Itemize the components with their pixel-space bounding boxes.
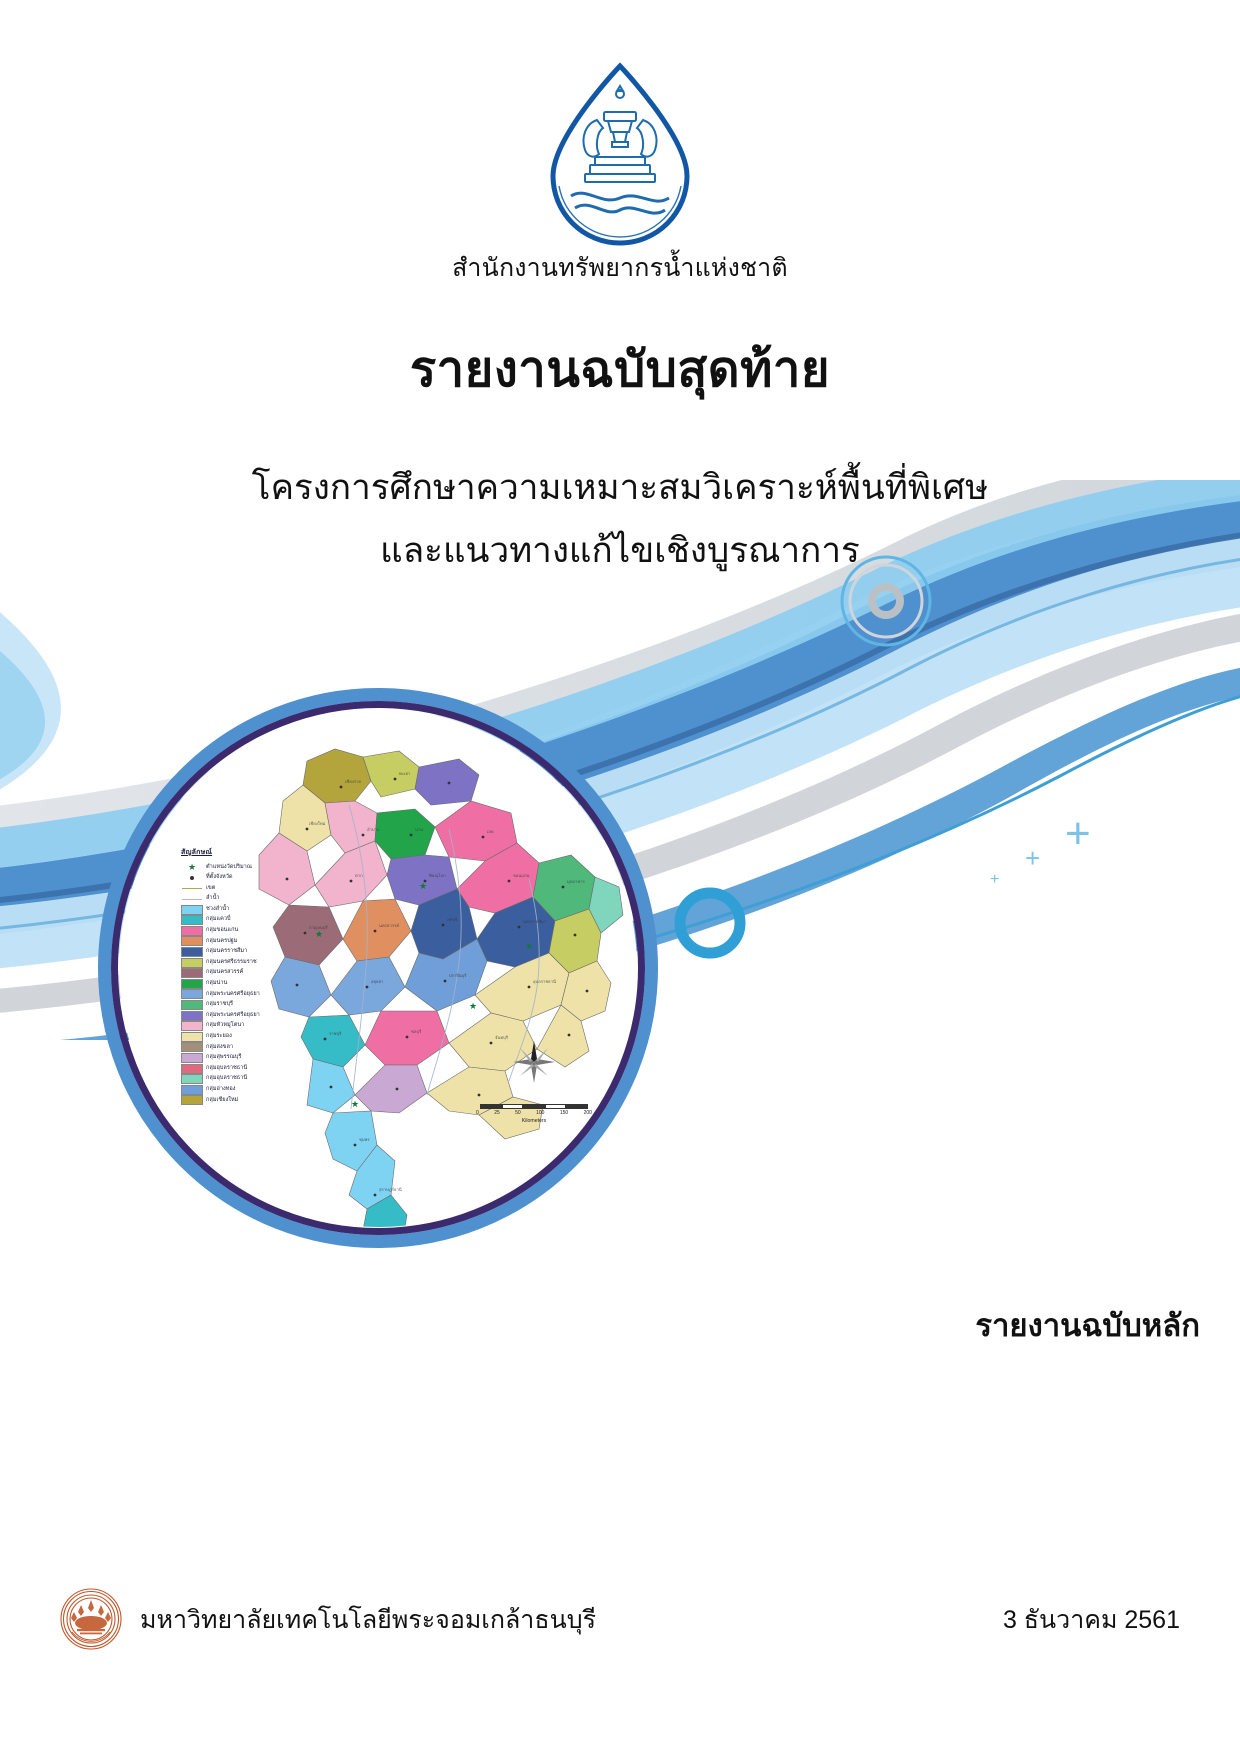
legend-color-swatch <box>181 936 203 946</box>
legend-key <box>181 899 203 900</box>
legend-key <box>181 1011 203 1021</box>
legend-color-swatch <box>181 1064 203 1074</box>
legend-color-swatch <box>181 905 203 915</box>
svg-text:★: ★ <box>525 941 533 951</box>
project-title-line-1: โครงการศึกษาความเหมาะสมวิเคราะห์พื้นที่พ… <box>0 460 1240 515</box>
legend-color-swatch <box>181 1021 203 1031</box>
legend-label: กลุ่มอ่างทอง <box>203 1087 236 1093</box>
legend-label: กลุ่มอุบลราชธานี <box>203 1076 247 1082</box>
legend-title: สัญลักษณ์ <box>181 847 286 858</box>
legend-item: ลำน้ำ <box>181 894 286 905</box>
scale-tick: 50 <box>515 1110 521 1116</box>
legend-label: กลุ่มเชียงใหม่ <box>203 1098 238 1104</box>
legend-item: กลุ่มราชบุรี <box>181 1000 286 1011</box>
legend-label: กลุ่มพระนครศรีอยุธยา <box>203 992 260 998</box>
legend-key <box>181 1074 203 1084</box>
legend-color-swatch <box>181 958 203 968</box>
legend-label: ช่วงลำน้ำ <box>203 907 229 913</box>
legend-item: กลุ่มขอนแก่น <box>181 926 286 937</box>
legend-color-swatch <box>181 947 203 957</box>
legend-label: เขต <box>203 886 215 892</box>
scale-bar-segments <box>480 1104 588 1109</box>
legend-color-swatch <box>181 1032 203 1042</box>
svg-text:เชียงราย: เชียงราย <box>345 779 361 784</box>
svg-text:เชียงใหม่: เชียงใหม่ <box>309 820 326 826</box>
dot-icon <box>190 876 194 880</box>
legend-point-group: ★ตำแหน่งวัดปริมาณที่ตั้งจังหวัด <box>181 862 286 883</box>
svg-text:★: ★ <box>419 881 427 891</box>
legend-item: กลุ่มอุบลราชธานี <box>181 1063 286 1074</box>
legend-key <box>181 947 203 957</box>
legend-key <box>181 1053 203 1063</box>
footer: มหาวิทยาลัยเทคโนโลยีพระจอมเกล้าธนบุรี 3 … <box>0 1580 1240 1700</box>
map-scale-bar: 02550100150200 Kilometers <box>474 1104 594 1124</box>
scale-tick: 150 <box>560 1110 568 1116</box>
legend-key <box>181 1064 203 1074</box>
legend-color-swatch <box>181 989 203 999</box>
legend-label: ตำแหน่งวัดปริมาณ <box>203 865 252 871</box>
legend-key <box>181 968 203 978</box>
legend-item: กลุ่มนครปฐม <box>181 936 286 947</box>
svg-text:ลำปาง: ลำปาง <box>367 827 379 832</box>
legend-item: กลุ่มสงขลา <box>181 1042 286 1053</box>
legend-label: กลุ่มราชบุรี <box>203 1002 233 1008</box>
legend-key <box>181 1032 203 1042</box>
scale-tick: 200 <box>584 1110 592 1116</box>
legend-key <box>181 958 203 968</box>
legend-key <box>181 979 203 989</box>
legend-label: ลำน้ำ <box>203 896 220 902</box>
legend-color-swatch <box>181 1053 203 1063</box>
svg-text:น่าน: น่าน <box>415 827 423 832</box>
legend-color-swatch <box>181 915 203 925</box>
legend-line-swatch <box>182 888 202 889</box>
legend-item: กลุ่มหัวหมู่โตนา <box>181 1021 286 1032</box>
legend-item: กลุ่มเชียงใหม่ <box>181 1095 286 1106</box>
legend-color-swatch <box>181 979 203 989</box>
thailand-basin-map: ★★ ★★ ★★ เชียงรายพะเยา เชียงใหม่ลำปาง น่… <box>119 709 637 1227</box>
legend-item: ช่วงลำน้ำ <box>181 904 286 915</box>
university-name: มหาวิทยาลัยเทคโนโลยีพระจอมเกล้าธนบุรี <box>140 1600 596 1640</box>
legend-label: กลุ่มขอนแก่น <box>203 928 238 934</box>
organization-name: สำนักงานทรัพยากรน้ำแห่งชาติ <box>0 248 1240 288</box>
legend-label: กลุ่มนครสวรรค์ <box>203 970 243 976</box>
legend-color-swatch <box>181 1042 203 1052</box>
legend-item: กลุ่มแควบี่ <box>181 915 286 926</box>
legend-color-swatch <box>181 1095 203 1105</box>
legend-item: กลุ่มนครศรีธรรมราช <box>181 957 286 968</box>
svg-text:เลย: เลย <box>487 829 494 834</box>
scale-tick: 100 <box>536 1110 544 1116</box>
page-title: รายงานฉบับสุดท้าย <box>0 330 1240 408</box>
star-icon: ★ <box>188 863 196 872</box>
legend-key <box>181 888 203 889</box>
svg-text:นครราชสีมา: นครราชสีมา <box>523 919 546 924</box>
svg-text:นครสวรรค์: นครสวรรค์ <box>379 923 399 928</box>
report-date: 3 ธันวาคม 2561 <box>1003 1600 1180 1640</box>
map-legend: สัญลักษณ์ ★ตำแหน่งวัดปริมาณที่ตั้งจังหวั… <box>181 847 286 1106</box>
legend-label: กลุ่มพระนครศรีอยุธยา <box>203 1013 260 1019</box>
legend-item: กลุ่มพระนครศรีอยุธยา <box>181 989 286 1000</box>
legend-line-group: เขตลำน้ำ <box>181 883 286 904</box>
svg-text:ตาก: ตาก <box>355 873 363 878</box>
project-title-line-2: และแนวทางแก้ไขเชิงบูรณาการ <box>0 523 1240 578</box>
legend-label: กลุ่มสุพรรณบุรี <box>203 1055 241 1061</box>
map-medallion: ★★ ★★ ★★ เชียงรายพะเยา เชียงใหม่ลำปาง น่… <box>98 688 658 1248</box>
legend-item: กลุ่มนครสวรรค์ <box>181 968 286 979</box>
legend-item: กลุ่มนครราชสีมา <box>181 947 286 958</box>
legend-item: ที่ตั้งจังหวัด <box>181 873 286 884</box>
legend-key <box>181 905 203 915</box>
legend-label: กลุ่มน่าน <box>203 981 227 987</box>
legend-basin-group: ช่วงลำน้ำกลุ่มแควบี่กลุ่มขอนแก่นกลุ่มนคร… <box>181 904 286 1105</box>
svg-text:★: ★ <box>315 929 323 939</box>
svg-text:★: ★ <box>469 1001 477 1011</box>
legend-key <box>181 1021 203 1031</box>
legend-key <box>181 989 203 999</box>
legend-color-swatch <box>181 1000 203 1010</box>
legend-key <box>181 1000 203 1010</box>
legend-color-swatch <box>181 926 203 936</box>
legend-item: กลุ่มอ่างทอง <box>181 1084 286 1095</box>
legend-item: ★ตำแหน่งวัดปริมาณ <box>181 862 286 873</box>
legend-key <box>181 1085 203 1095</box>
scale-tick: 25 <box>494 1110 500 1116</box>
legend-key <box>181 876 203 880</box>
compass-rose-icon <box>511 1039 557 1085</box>
onwr-droplet-logo-icon <box>535 58 705 258</box>
legend-key <box>181 1095 203 1105</box>
legend-label: กลุ่มอุบลราชธานี <box>203 1066 247 1072</box>
legend-item: กลุ่มพระนครศรีอยุธยา <box>181 1010 286 1021</box>
svg-text:★: ★ <box>351 1099 359 1109</box>
legend-key <box>181 1042 203 1052</box>
legend-key <box>181 915 203 925</box>
legend-item: กลุ่มสุพรรณบุรี <box>181 1053 286 1064</box>
legend-line-swatch <box>182 899 202 900</box>
legend-color-swatch <box>181 1085 203 1095</box>
scale-tick: 0 <box>476 1110 479 1116</box>
scale-tick-labels: 02550100150200 <box>476 1110 592 1116</box>
legend-label: กลุ่มนครราชสีมา <box>203 949 247 955</box>
legend-label: กลุ่มนครปฐม <box>203 939 237 945</box>
legend-color-swatch <box>181 1074 203 1084</box>
legend-key: ★ <box>181 863 203 872</box>
legend-key <box>181 926 203 936</box>
legend-item: กลุ่มอุบลราชธานี <box>181 1074 286 1085</box>
legend-label: กลุ่มแควบี่ <box>203 917 231 923</box>
legend-label: กลุ่มนครศรีธรรมราช <box>203 960 257 966</box>
legend-color-swatch <box>181 968 203 978</box>
legend-label: กลุ่มระยอง <box>203 1034 232 1040</box>
ring-ornament-small-icon <box>672 885 748 961</box>
legend-label: ที่ตั้งจังหวัด <box>203 875 233 881</box>
legend-item: กลุ่มระยอง <box>181 1032 286 1043</box>
sparkle-plus-small-icon: + <box>990 872 999 888</box>
svg-text:พะเยา: พะเยา <box>399 771 410 776</box>
legend-item: กลุ่มน่าน <box>181 979 286 990</box>
scale-unit-label: Kilometers <box>474 1118 594 1124</box>
sparkle-plus-large-icon: + <box>1065 812 1091 856</box>
svg-text:ขอนแก่น: ขอนแก่น <box>513 873 529 878</box>
kmutt-seal-icon <box>60 1588 122 1650</box>
legend-label: กลุ่มหัวหมู่โตนา <box>203 1023 244 1029</box>
main-report-label: รายงานฉบับหลัก <box>0 1300 1200 1350</box>
legend-label: กลุ่มสงขลา <box>203 1045 233 1051</box>
legend-color-swatch <box>181 1011 203 1021</box>
legend-item: เขต <box>181 883 286 894</box>
legend-key <box>181 936 203 946</box>
sparkle-plus-medium-icon: + <box>1025 845 1040 871</box>
